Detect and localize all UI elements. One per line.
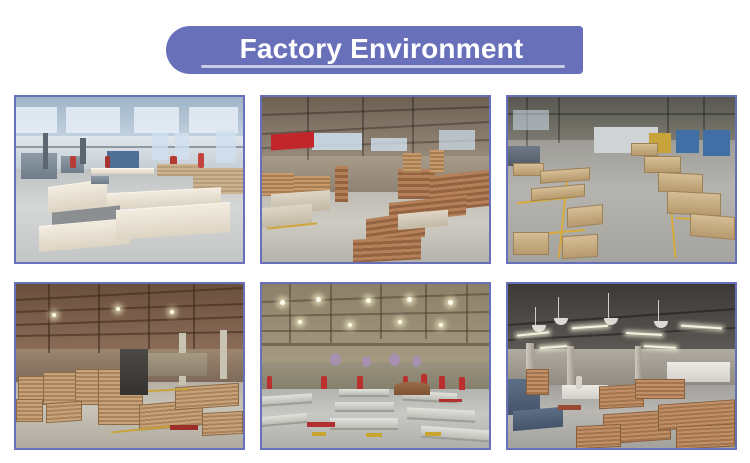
photo-tile-3[interactable] [506, 95, 737, 264]
factory-photo-6 [508, 284, 735, 449]
banner-row: Factory Environment [0, 26, 750, 74]
photo-tile-1[interactable] [14, 95, 245, 264]
photo-grid [14, 95, 737, 450]
photo-tile-6[interactable] [506, 282, 737, 451]
page-title: Factory Environment [226, 34, 524, 66]
factory-environment-page: Factory Environment [0, 0, 750, 463]
factory-photo-5 [262, 284, 489, 449]
photo-tile-2[interactable] [260, 95, 491, 264]
factory-photo-2 [262, 97, 489, 262]
title-banner: Factory Environment [166, 26, 583, 74]
factory-photo-3 [508, 97, 735, 262]
title-underline [201, 65, 565, 68]
photo-tile-5[interactable] [260, 282, 491, 451]
factory-photo-4 [16, 284, 243, 449]
factory-photo-1 [16, 97, 243, 262]
photo-tile-4[interactable] [14, 282, 245, 451]
